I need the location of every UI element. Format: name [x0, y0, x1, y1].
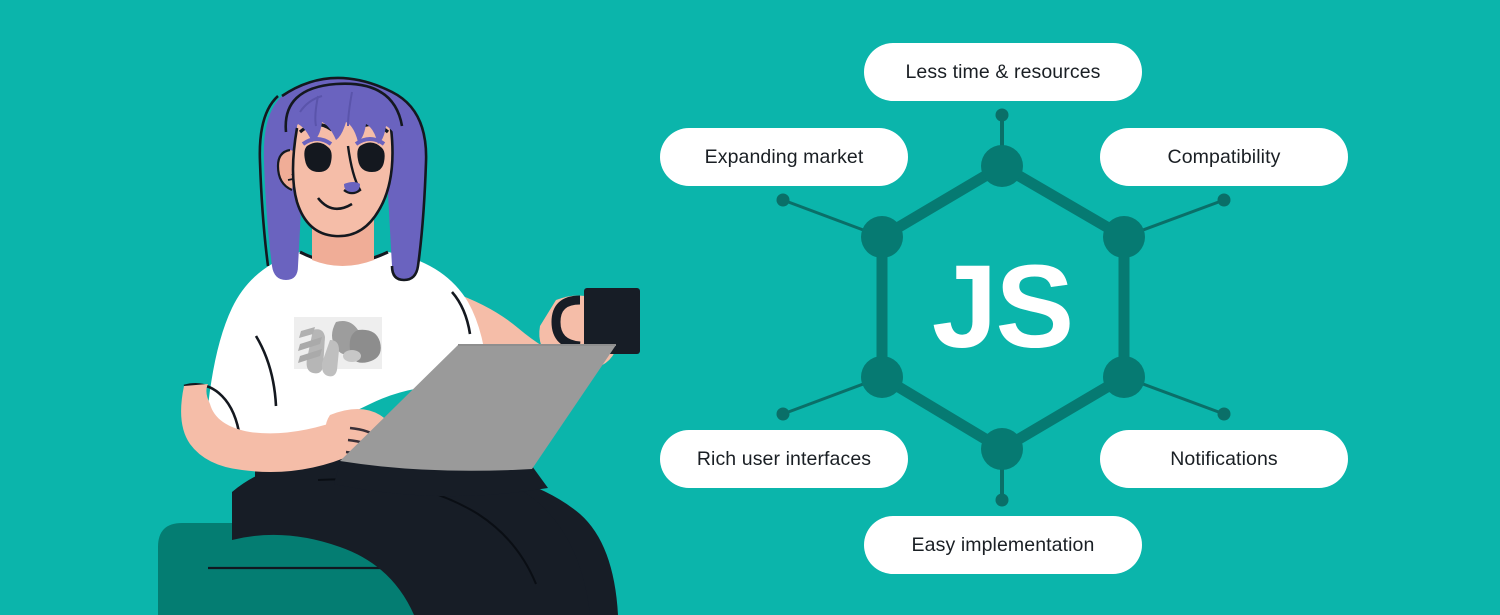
js-wordmark: JS	[902, 244, 1102, 369]
dot-lower-left	[777, 408, 790, 421]
label-rich-user-interfaces[interactable]: Rich user interfaces	[660, 430, 908, 488]
dot-bottom	[996, 494, 1009, 507]
node-lower-left[interactable]	[861, 356, 903, 398]
node-bottom[interactable]	[981, 428, 1023, 470]
eye-left	[304, 142, 331, 172]
dot-upper-right	[1218, 194, 1231, 207]
node-lower-right[interactable]	[1103, 356, 1145, 398]
node-upper-left[interactable]	[861, 216, 903, 258]
label-notifications[interactable]: Notifications	[1100, 430, 1348, 488]
label-compatibility[interactable]: Compatibility	[1100, 128, 1348, 186]
label-less-time-and-resources[interactable]: Less time & resources	[864, 43, 1142, 101]
edge-bottom-right	[1002, 377, 1124, 449]
node-upper-right[interactable]	[1103, 216, 1145, 258]
dot-top	[996, 109, 1009, 122]
edge-top-right	[1002, 166, 1124, 237]
dot-upper-left	[777, 194, 790, 207]
eye-right	[357, 142, 384, 172]
woman-with-laptop-illustration	[0, 0, 700, 615]
node-top[interactable]	[981, 145, 1023, 187]
dot-lower-right	[1218, 408, 1231, 421]
label-easy-implementation[interactable]: Easy implementation	[864, 516, 1142, 574]
label-expanding-market[interactable]: Expanding market	[660, 128, 908, 186]
infographic-canvas: JS Less time & resources Expanding marke…	[0, 0, 1500, 615]
tshirt-graphic	[294, 317, 382, 376]
